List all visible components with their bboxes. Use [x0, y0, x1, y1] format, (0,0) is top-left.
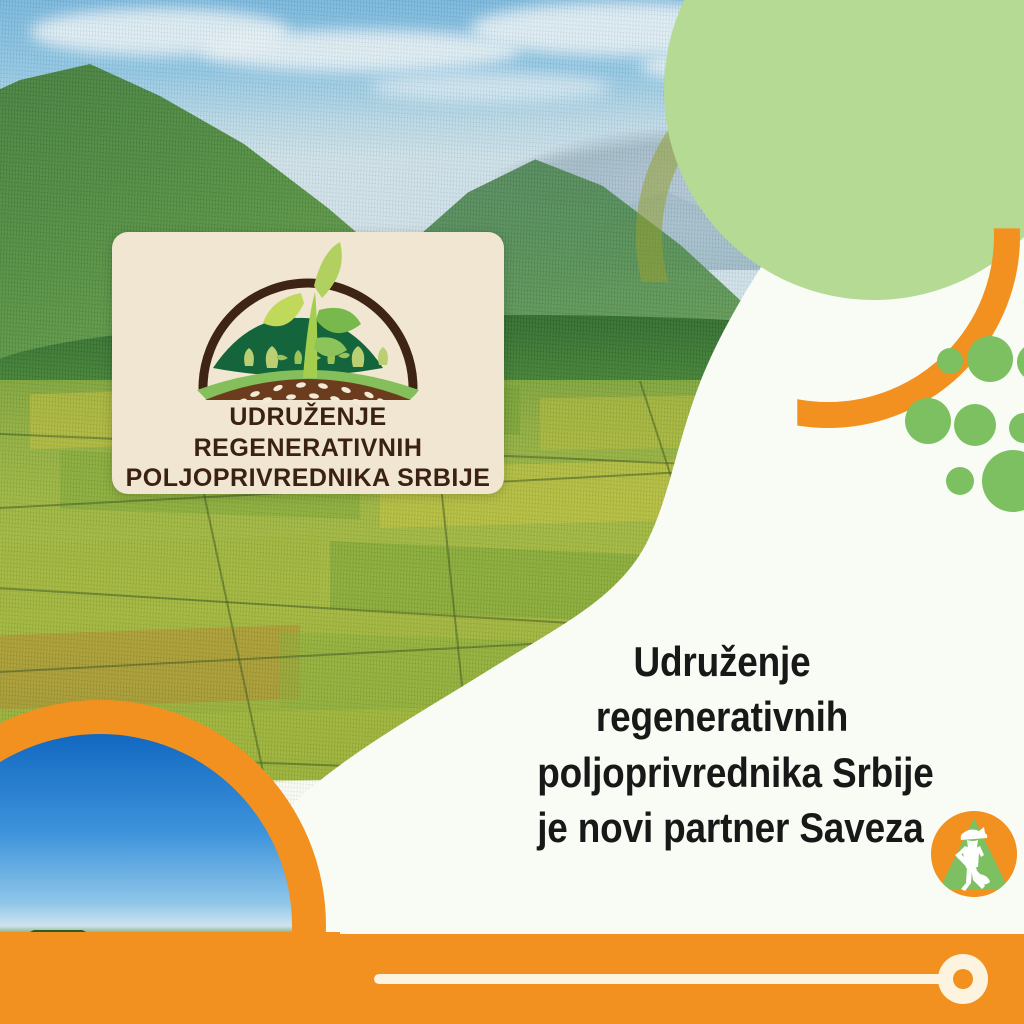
farmer-with-shovel-badge[interactable]: [931, 811, 1017, 897]
decor-dot: [937, 348, 963, 374]
headline-line-2: regenerativnih: [537, 689, 907, 744]
field-patch: [540, 394, 800, 451]
decor-dot: [967, 336, 1013, 382]
logo-line-1: UDRUŽENJE REGENERATIVNIH: [194, 403, 423, 462]
decor-dot: [982, 450, 1024, 512]
decor-dot: [1017, 343, 1024, 381]
farmer-icon: [931, 811, 1017, 897]
headline-line-1: Udruženje: [537, 634, 907, 689]
organization-logo-card[interactable]: UDRUŽENJE REGENERATIVNIH POLJOPRIVREDNIK…: [112, 232, 504, 494]
headline-line-4: je novi partner Saveza: [537, 800, 907, 855]
bottom-bar-notch: [0, 932, 340, 962]
logo-wordmark: UDRUŽENJE REGENERATIVNIH POLJOPRIVREDNIK…: [112, 402, 504, 494]
cloud: [200, 30, 520, 72]
headline-line-3: poljoprivrednika Srbije: [537, 745, 907, 800]
field-patch-tilled: [0, 625, 300, 709]
field-patch: [0, 534, 320, 611]
bottom-bar-knob-icon: [938, 954, 988, 1004]
field-divider: [639, 381, 734, 667]
poster-canvas: UDRUŽENJE REGENERATIVNIH POLJOPRIVREDNIK…: [0, 0, 1024, 1024]
logo-line-2: POLJOPRIVREDNIKA SRBIJE: [112, 463, 504, 494]
bottom-bar-line: [374, 974, 954, 984]
cloud: [370, 72, 610, 102]
logo-emblem-icon: [183, 238, 433, 406]
decor-dot: [946, 467, 974, 495]
decor-dot: [1009, 413, 1024, 443]
headline-text: Udruženje regenerativnih poljoprivrednik…: [537, 634, 907, 856]
decor-dot: [905, 398, 951, 444]
decor-dot: [954, 404, 996, 446]
